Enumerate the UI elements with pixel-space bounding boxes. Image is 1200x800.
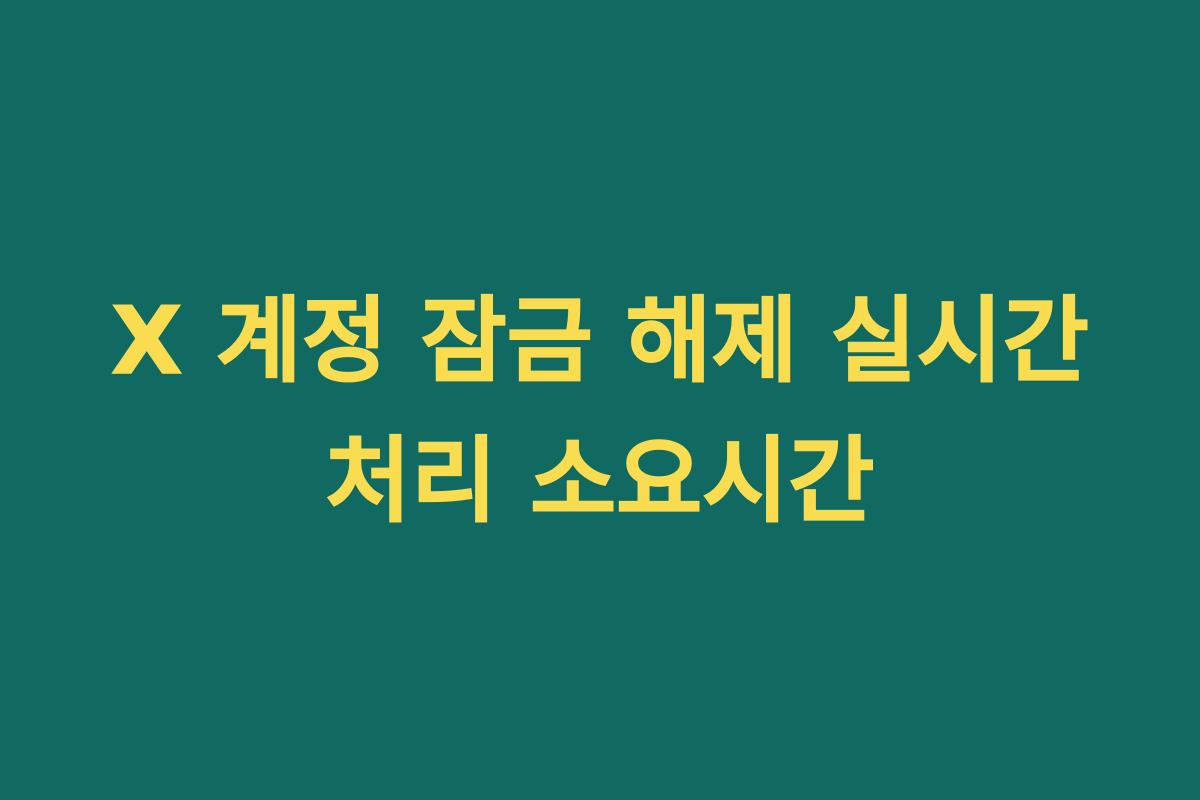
headline-line-2: 처리 소요시간	[30, 411, 1170, 551]
headline-block: X 계정 잠금 해제 실시간 처리 소요시간	[0, 268, 1200, 554]
headline-line-1: X 계정 잠금 해제 실시간	[30, 271, 1170, 411]
thumbnail-banner: X 계정 잠금 해제 실시간 처리 소요시간	[0, 0, 1200, 800]
page-title: X 계정 잠금 해제 실시간 처리 소요시간	[30, 271, 1170, 551]
